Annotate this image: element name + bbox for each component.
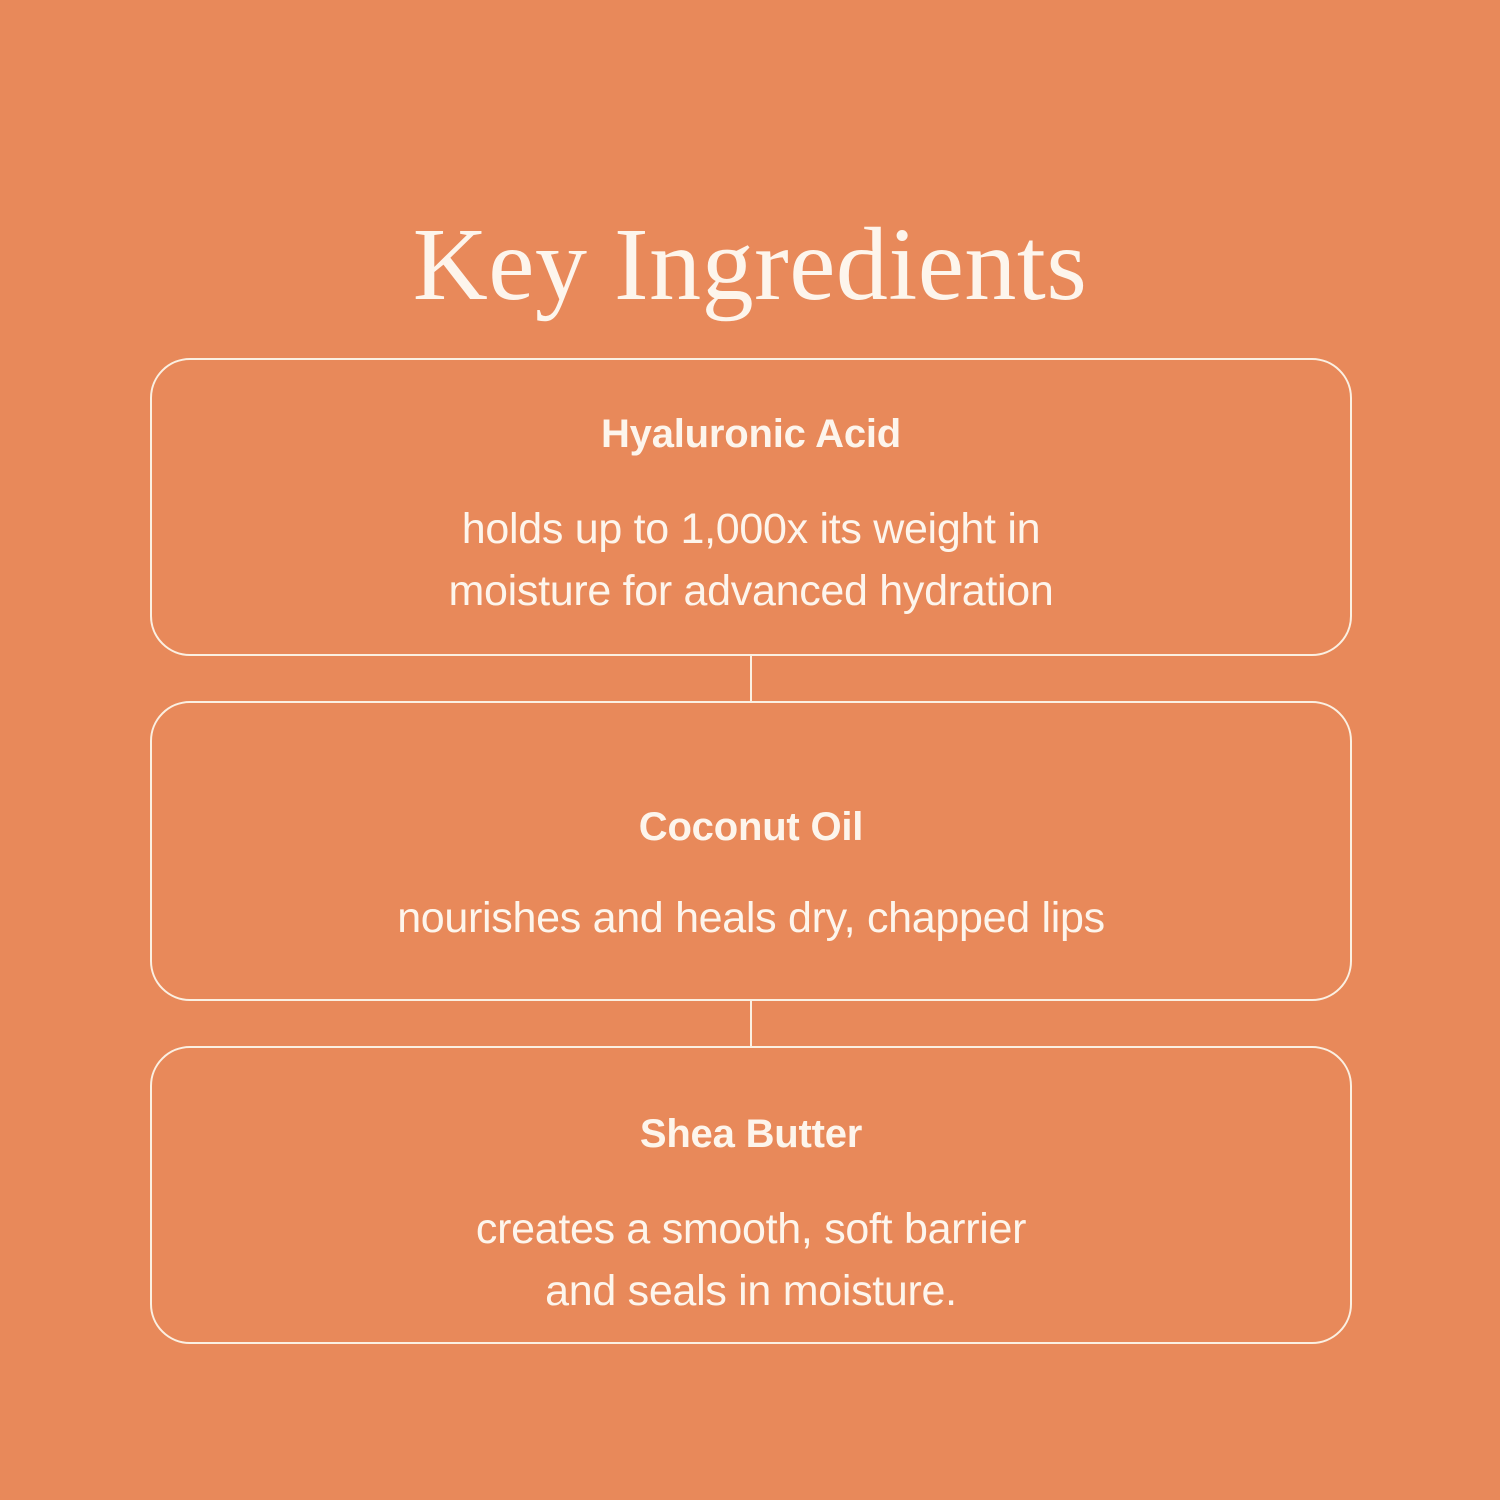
- ingredient-description: creates a smooth, soft barrier and seals…: [476, 1198, 1026, 1323]
- page-title: Key Ingredients: [0, 210, 1500, 319]
- connector-line-1: [150, 656, 1352, 701]
- ingredient-description: holds up to 1,000x its weight in moistur…: [449, 498, 1054, 623]
- ingredient-card-stack: Hyaluronic Acid holds up to 1,000x its w…: [150, 358, 1352, 1344]
- ingredient-card-coconut-oil: Coconut Oil nourishes and heals dry, cha…: [150, 701, 1352, 1001]
- key-ingredients-infographic: Key Ingredients Hyaluronic Acid holds up…: [0, 0, 1500, 1500]
- ingredient-card-hyaluronic-acid: Hyaluronic Acid holds up to 1,000x its w…: [150, 358, 1352, 656]
- ingredient-name: Shea Butter: [640, 1110, 862, 1158]
- ingredient-name: Coconut Oil: [639, 803, 863, 851]
- ingredient-name: Hyaluronic Acid: [601, 410, 901, 458]
- ingredient-card-shea-butter: Shea Butter creates a smooth, soft barri…: [150, 1046, 1352, 1344]
- ingredient-description: nourishes and heals dry, chapped lips: [397, 887, 1105, 949]
- connector-line-2: [150, 1001, 1352, 1046]
